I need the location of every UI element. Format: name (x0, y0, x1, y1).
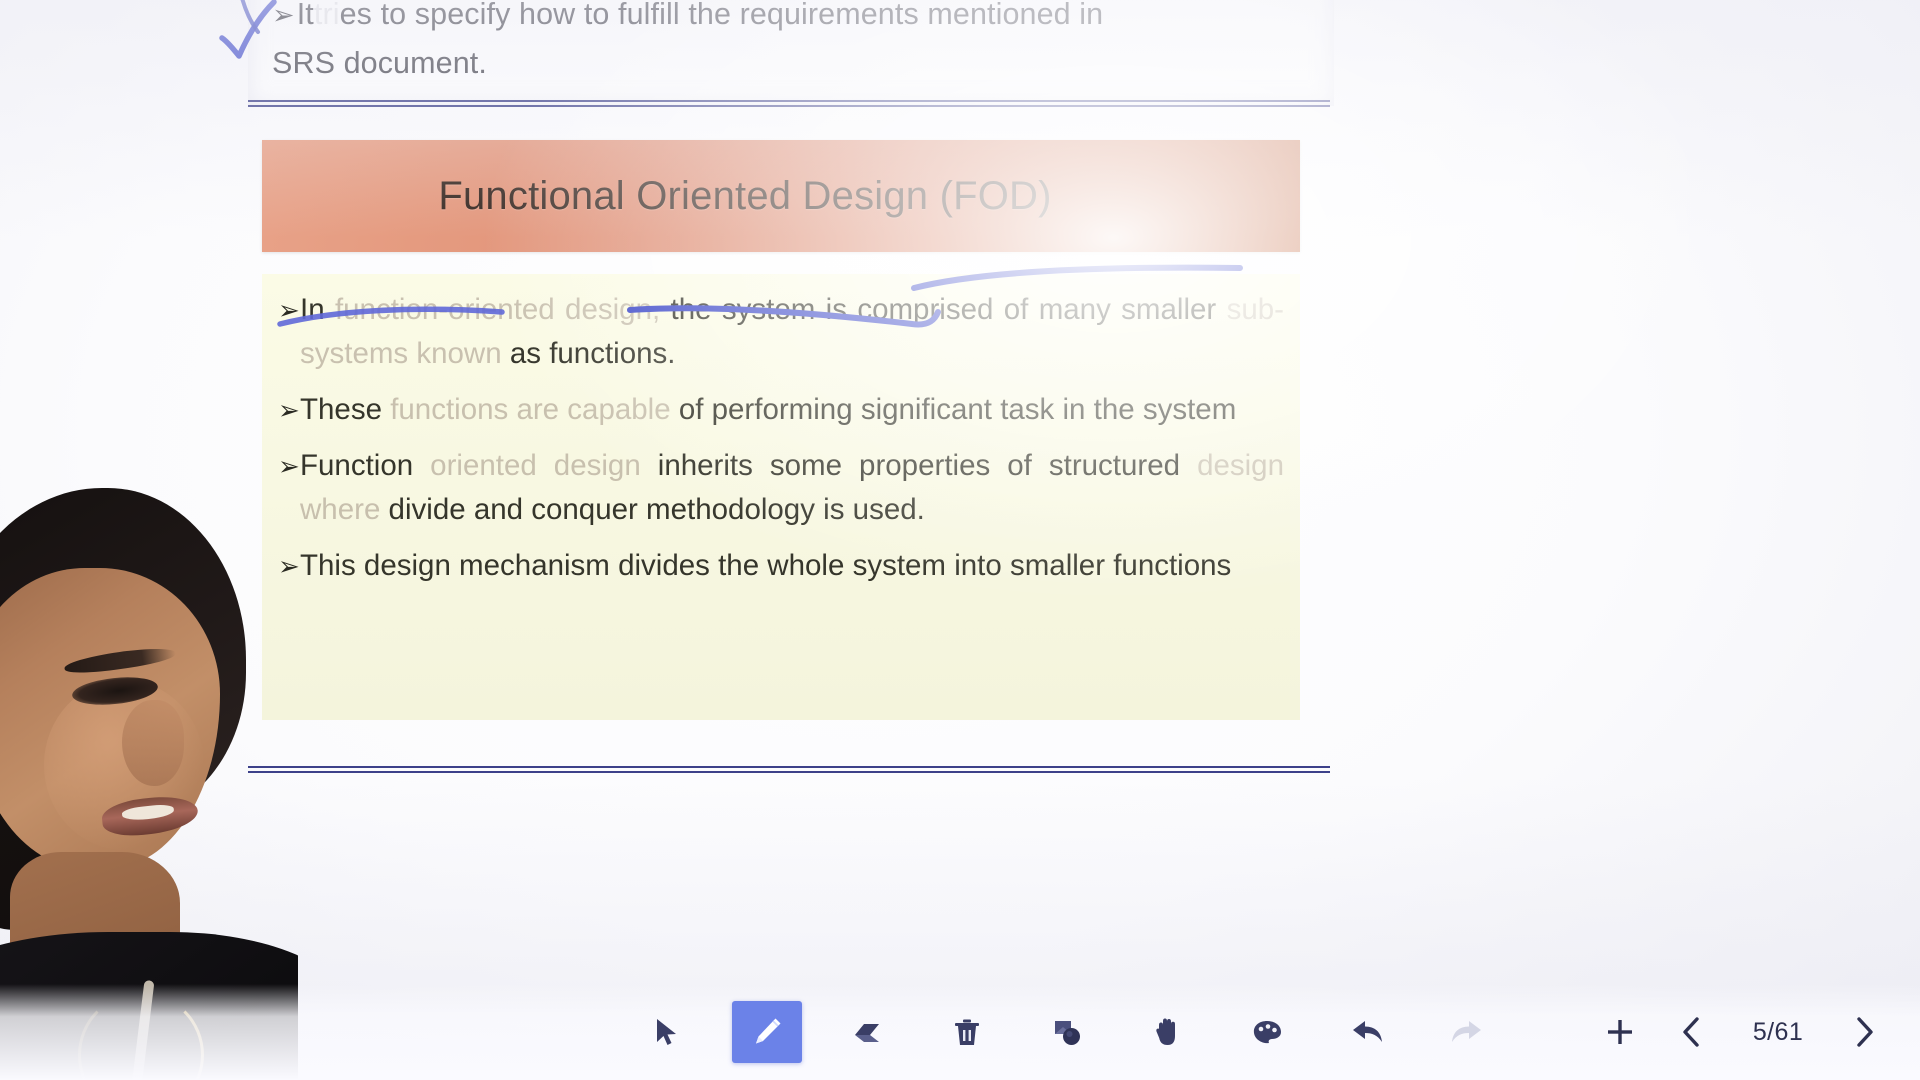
bullet-item-2: ➢These functions are capable of performi… (278, 388, 1284, 432)
bullet-item-1: ➢In function-oriented design, the system… (278, 288, 1284, 376)
page-indicator: 5/61 (1732, 1018, 1824, 1047)
shape-tool[interactable] (1032, 1001, 1102, 1063)
text-run: functions are capable (390, 393, 670, 426)
chevron-left-icon (1680, 1016, 1704, 1048)
slide-document: ➢Ittries to specify how to fulfill the r… (248, 0, 1334, 894)
next-page-button[interactable] (1832, 1001, 1896, 1063)
previous-line1-faded: tri (314, 0, 340, 31)
presenter-neck (10, 852, 180, 1002)
presenter-eye (71, 674, 159, 709)
text-run: In (300, 293, 335, 326)
redo-button[interactable] (1432, 1001, 1502, 1063)
presenter-mouth (100, 793, 199, 839)
bullet-item-3: ➢Function oriented design inherits some … (278, 444, 1284, 532)
shapes-icon (1052, 1017, 1082, 1047)
chevron-right-icon (1852, 1016, 1876, 1048)
slide-title-banner: Functional Oriented Design (FOD) (262, 140, 1300, 252)
bottom-toolbar: 5/61 (0, 984, 1920, 1080)
trash-icon (953, 1017, 981, 1047)
divider-bottom (248, 766, 1330, 774)
text-run: of performing significant task in the sy… (671, 393, 1237, 426)
palette-icon (1251, 1018, 1283, 1046)
text-run: as functions. (502, 337, 676, 370)
slide-body-panel: ➢In function-oriented design, the system… (262, 274, 1300, 720)
text-run: These (300, 393, 390, 426)
redo-arrow-icon (1450, 1018, 1484, 1046)
text-run: inherits some properties of structured (641, 449, 1197, 482)
eraser-tool[interactable] (832, 1001, 902, 1063)
text-run: the system is comprised of many smaller (660, 293, 1226, 326)
cursor-arrow-icon (654, 1017, 680, 1047)
add-page-button[interactable] (1588, 1001, 1652, 1063)
undo-button[interactable] (1332, 1001, 1402, 1063)
bullet-marker: ➢ (278, 544, 300, 588)
pencil-icon (750, 1015, 784, 1049)
tool-group (632, 1001, 1502, 1063)
color-tool[interactable] (1232, 1001, 1302, 1063)
navigation-group: 5/61 (1588, 1001, 1896, 1063)
presenter-teeth (121, 803, 174, 821)
presenter-hair (0, 488, 246, 818)
select-tool[interactable] (632, 1001, 702, 1063)
text-run: function-oriented design, (335, 293, 660, 326)
previous-slide-block: ➢Ittries to specify how to fulfill the r… (248, 0, 1334, 106)
delete-tool[interactable] (932, 1001, 1002, 1063)
previous-page-button[interactable] (1660, 1001, 1724, 1063)
text-run: divide and conquer methodology is used. (380, 493, 924, 526)
bullet-text-1: In function-oriented design, the system … (300, 293, 1284, 370)
eraser-icon (852, 1017, 882, 1047)
bullet-text-2: These functions are capable of performin… (300, 393, 1236, 426)
bullet-marker: ➢ (278, 288, 300, 332)
bullet-marker: ➢ (278, 388, 300, 432)
bullet-text-4: This design mechanism divides the whole … (300, 549, 1231, 582)
divider-top (248, 100, 1330, 108)
presenter-face (0, 568, 220, 868)
undo-arrow-icon (1350, 1018, 1384, 1046)
hand-icon (1153, 1016, 1181, 1048)
page-title: Functional Oriented Design (FOD) (438, 176, 1051, 216)
whiteboard-canvas: ➢Ittries to specify how to fulfill the r… (0, 0, 1920, 1080)
previous-line1-prefix: It (297, 0, 314, 31)
previous-slide-text: ➢Ittries to specify how to fulfill the r… (272, 0, 1314, 87)
presenter-cheek (44, 680, 204, 850)
pan-tool[interactable] (1132, 1001, 1202, 1063)
text-run: This design mechanism divides the whole … (300, 549, 1231, 582)
bullet-text-3: Function oriented design inherits some p… (300, 449, 1284, 526)
presenter-nose (122, 700, 184, 786)
presenter-eyebrow (63, 644, 176, 676)
previous-line1-rest: es to specify how to fulfill the require… (340, 0, 1104, 31)
bullet-item-4: ➢This design mechanism divides the whole… (278, 544, 1284, 588)
bullet-marker: ➢ (278, 444, 300, 488)
text-run: oriented design (430, 449, 641, 482)
bullet-marker: ➢ (272, 0, 295, 30)
presenter-hair-side (0, 600, 116, 930)
plus-icon (1605, 1017, 1635, 1047)
previous-line2: SRS document. (272, 39, 1314, 87)
pen-tool[interactable] (732, 1001, 802, 1063)
text-run: Function (300, 449, 430, 482)
